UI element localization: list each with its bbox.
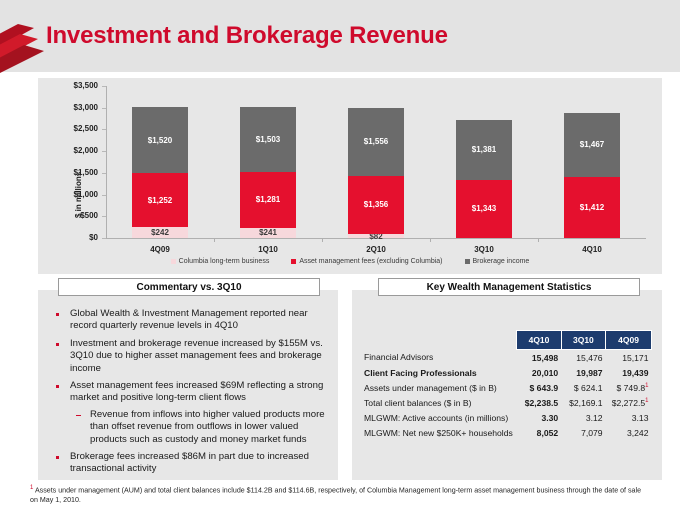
- footnote-text: Assets under management (AUM) and total …: [30, 486, 641, 504]
- table-row: Total client balances ($ in B)$2,238.5$2…: [364, 395, 652, 410]
- slide-page: Investment and Brokerage Revenue $ in mi…: [0, 0, 680, 510]
- table-cell-footnote-marker: 1: [645, 383, 648, 389]
- chart-bar-value-label: $1,381: [472, 145, 496, 154]
- chart-bar-stack: $1,412$1,467: [564, 86, 620, 238]
- chart-y-tick-label: $3,000: [52, 103, 98, 112]
- table-cell: $ 749.81: [606, 380, 652, 395]
- key-statistics-table: 4Q103Q104Q09 Financial Advisors15,49815,…: [364, 330, 652, 440]
- chart-legend-item: Columbia long-term business: [171, 258, 270, 265]
- chart-y-axis-line: [106, 86, 107, 238]
- table-row-label: MLGWM: Net new $250K+ households: [364, 425, 517, 440]
- table-cell: 7,079: [561, 425, 605, 440]
- chart-bar-segment: $1,252: [132, 173, 188, 227]
- table-cell-footnote-marker: 1: [645, 398, 648, 404]
- commentary-bullet-list: Global Wealth & Investment Management re…: [48, 308, 334, 481]
- table-cell: $ 624.1: [561, 380, 605, 395]
- table-row-label: Financial Advisors: [364, 350, 517, 366]
- commentary-sub-list: Revenue from inflows into higher valued …: [70, 409, 334, 446]
- table-column-header: 4Q10: [517, 331, 561, 350]
- table-cell: 3,242: [606, 425, 652, 440]
- chart-bar-stack: $242$1,252$1,520: [132, 86, 188, 238]
- table-row: MLGWM: Active accounts (in millions)3.30…: [364, 410, 652, 425]
- chart-x-category-label: 4Q10: [538, 245, 646, 254]
- table-body: Financial Advisors15,49815,47615,171Clie…: [364, 350, 652, 441]
- table-cell: 8,052: [517, 425, 561, 440]
- table-cell: $ 643.9: [517, 380, 561, 395]
- table-cell: 19,439: [606, 365, 652, 380]
- chart-bar-segment: $1,381: [456, 120, 512, 180]
- chart-legend-item: Brokerage income: [465, 258, 530, 265]
- chart-bar-value-label: $242: [151, 228, 169, 237]
- table-header-spacer: [364, 331, 517, 350]
- chart-y-tick-label: $2,500: [52, 124, 98, 133]
- chart-x-category-label: 1Q10: [214, 245, 322, 254]
- chart-legend-swatch: [465, 259, 470, 264]
- chart-y-tick-label: $1,500: [52, 168, 98, 177]
- chart-legend-label: Brokerage income: [473, 258, 530, 265]
- chart-bar-stack: $82$1,356$1,556: [348, 86, 404, 238]
- table-cell: 15,476: [561, 350, 605, 366]
- chart-bar-segment: $1,556: [348, 108, 404, 176]
- chart-legend-swatch: [291, 259, 296, 264]
- chart-bar-value-label: $1,503: [256, 135, 280, 144]
- table-row: Assets under management ($ in B)$ 643.9$…: [364, 380, 652, 395]
- statistics-title: Key Wealth Management Statistics: [378, 278, 640, 296]
- commentary-bullet-text: Asset management fees increased $69M ref…: [70, 380, 323, 403]
- table-row: MLGWM: Net new $250K+ households8,0527,0…: [364, 425, 652, 440]
- table-cell: 15,498: [517, 350, 561, 366]
- commentary-panel: Global Wealth & Investment Management re…: [38, 290, 338, 480]
- table-column-header: 4Q09: [606, 331, 652, 350]
- chart-bar-segment: $1,520: [132, 107, 188, 173]
- table-cell: 15,171: [606, 350, 652, 366]
- page-title: Investment and Brokerage Revenue: [46, 22, 448, 50]
- chart-bar-value-label: $1,281: [256, 195, 280, 204]
- table-row: Client Facing Professionals20,01019,9871…: [364, 365, 652, 380]
- table-row: Financial Advisors15,49815,47615,171: [364, 350, 652, 366]
- chart-bar-value-label: $1,412: [580, 203, 604, 212]
- commentary-bullet: Global Wealth & Investment Management re…: [48, 308, 334, 333]
- chart-bar-segment: $242: [132, 227, 188, 238]
- commentary-sub-bullet: Revenue from inflows into higher valued …: [70, 409, 334, 446]
- statistics-panel: 4Q103Q104Q09 Financial Advisors15,49815,…: [352, 290, 662, 480]
- footnote-marker: 1: [30, 485, 33, 491]
- chart-y-tick-label: $2,000: [52, 146, 98, 155]
- table-cell: 3.12: [561, 410, 605, 425]
- table-cell: 3.13: [606, 410, 652, 425]
- commentary-bullet: Asset management fees increased $69M ref…: [48, 380, 334, 446]
- chart-x-tick-mark: [430, 238, 431, 242]
- chart-x-tick-mark: [214, 238, 215, 242]
- chart-legend-label: Asset management fees (excluding Columbi…: [299, 258, 442, 265]
- chart-bar-value-label: $1,356: [364, 200, 388, 209]
- table-cell: 20,010: [517, 365, 561, 380]
- table-row-label: MLGWM: Active accounts (in millions): [364, 410, 517, 425]
- chart-bar-value-label: $241: [259, 228, 277, 237]
- table-row-label: Total client balances ($ in B): [364, 395, 517, 410]
- chart-bar-segment: $1,467: [564, 113, 620, 177]
- chart-y-tick-label: $0: [52, 233, 98, 242]
- chart-y-tick-label: $500: [52, 211, 98, 220]
- commentary-bullet: Investment and brokerage revenue increas…: [48, 338, 334, 375]
- chart-bar-segment: $1,343: [456, 180, 512, 238]
- chart-bar-value-label: $1,520: [148, 136, 172, 145]
- table-cell: $2,169.1: [561, 395, 605, 410]
- table-column-header: 3Q10: [561, 331, 605, 350]
- commentary-bullet-text: Global Wealth & Investment Management re…: [70, 308, 308, 331]
- table-row-label: Client Facing Professionals: [364, 365, 517, 380]
- revenue-chart-panel: $ in millions $3,500$3,000$2,500$2,000$1…: [38, 78, 662, 274]
- table-header-row: 4Q103Q104Q09: [364, 331, 652, 350]
- chart-y-tick-label: $1,000: [52, 190, 98, 199]
- chart-legend-label: Columbia long-term business: [179, 258, 270, 265]
- chart-legend-swatch: [171, 259, 176, 264]
- chart-bar-segment: $1,356: [348, 176, 404, 235]
- table-cell: $2,272.51: [606, 395, 652, 410]
- chart-legend-item: Asset management fees (excluding Columbi…: [291, 258, 442, 265]
- chart-x-category-label: 4Q09: [106, 245, 214, 254]
- footnote: 1 Assets under management (AUM) and tota…: [30, 484, 650, 505]
- chart-bar-segment: $241: [240, 228, 296, 238]
- chart-bar-value-label: $1,343: [472, 204, 496, 213]
- commentary-bullet-text: Investment and brokerage revenue increas…: [70, 338, 323, 374]
- table-cell: 19,987: [561, 365, 605, 380]
- chart-x-tick-mark: [322, 238, 323, 242]
- chart-bar-stack: $1,343$1,381: [456, 86, 512, 238]
- chart-bar-value-label: $1,252: [148, 196, 172, 205]
- commentary-bullet-text: Brokerage fees increased $86M in part du…: [70, 451, 309, 474]
- chart-legend: Columbia long-term businessAsset managem…: [38, 258, 662, 265]
- table-cell: 3.30: [517, 410, 561, 425]
- table-row-label: Assets under management ($ in B): [364, 380, 517, 395]
- chart-bar-segment: $1,281: [240, 172, 296, 228]
- chart-x-tick-mark: [538, 238, 539, 242]
- chart-bar-segment: $82: [348, 234, 404, 238]
- commentary-bullet: Brokerage fees increased $86M in part du…: [48, 451, 334, 476]
- chart-bar-stack: $241$1,281$1,503: [240, 86, 296, 238]
- chart-bar-segment: $1,412: [564, 177, 620, 238]
- chart-bar-value-label: $1,467: [580, 140, 604, 149]
- chart-bar-segment: $1,503: [240, 107, 296, 172]
- chart-x-category-label: 2Q10: [322, 245, 430, 254]
- chart-x-category-label: 3Q10: [430, 245, 538, 254]
- table-cell: $2,238.5: [517, 395, 561, 410]
- chart-y-tick-label: $3,500: [52, 81, 98, 90]
- commentary-title: Commentary vs. 3Q10: [58, 278, 320, 296]
- chart-bar-value-label: $1,556: [364, 137, 388, 146]
